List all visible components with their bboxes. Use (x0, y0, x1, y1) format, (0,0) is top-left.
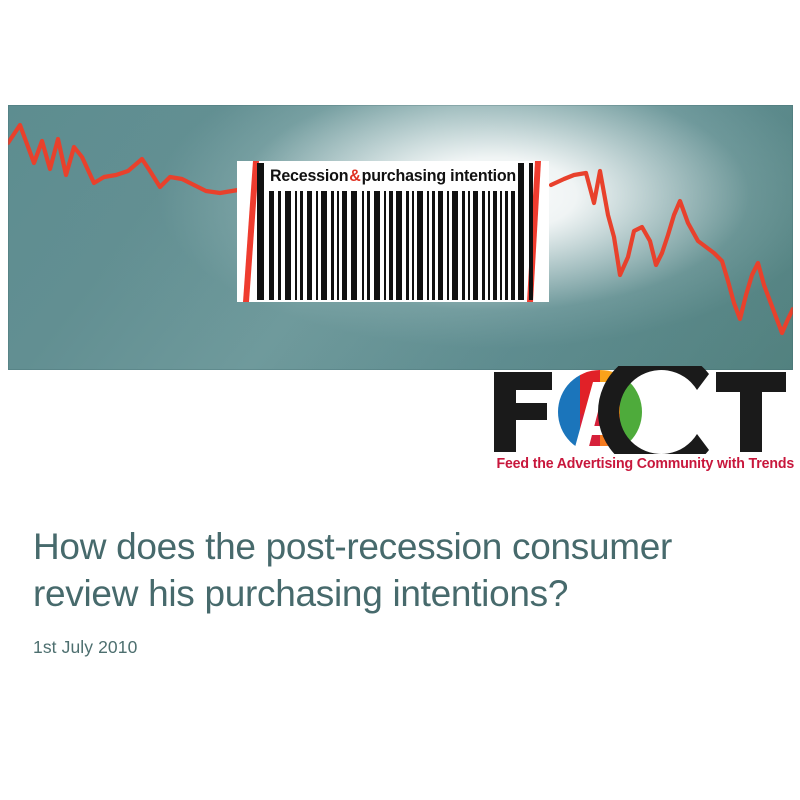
barcode-graphic: Recession & purchasing intention (237, 161, 549, 302)
barcode-caption-suffix: purchasing intention (362, 167, 516, 186)
logo-letter-t (716, 372, 786, 452)
chart-line-right (551, 171, 793, 333)
fact-wordmark (492, 366, 788, 454)
page-date: 1st July 2010 (33, 637, 773, 658)
fact-wordmark-graphic (492, 366, 788, 454)
logo-letter-f (494, 372, 552, 452)
logo-letter-c (598, 366, 709, 454)
barcode-caption: Recession & purchasing intention (261, 164, 525, 189)
hero-banner: Recession & purchasing intention (8, 105, 793, 370)
fact-tagline: Feed the Advertising Community with Tren… (496, 456, 786, 472)
page-title: How does the post-recession consumer rev… (33, 523, 773, 617)
chart-line-left (8, 125, 260, 193)
barcode-caption-ampersand: & (348, 167, 361, 186)
title-block: How does the post-recession consumer rev… (33, 523, 773, 658)
barcode-caption-prefix: Recession (270, 167, 348, 186)
fact-logo: Feed the Advertising Community with Tren… (492, 366, 788, 478)
